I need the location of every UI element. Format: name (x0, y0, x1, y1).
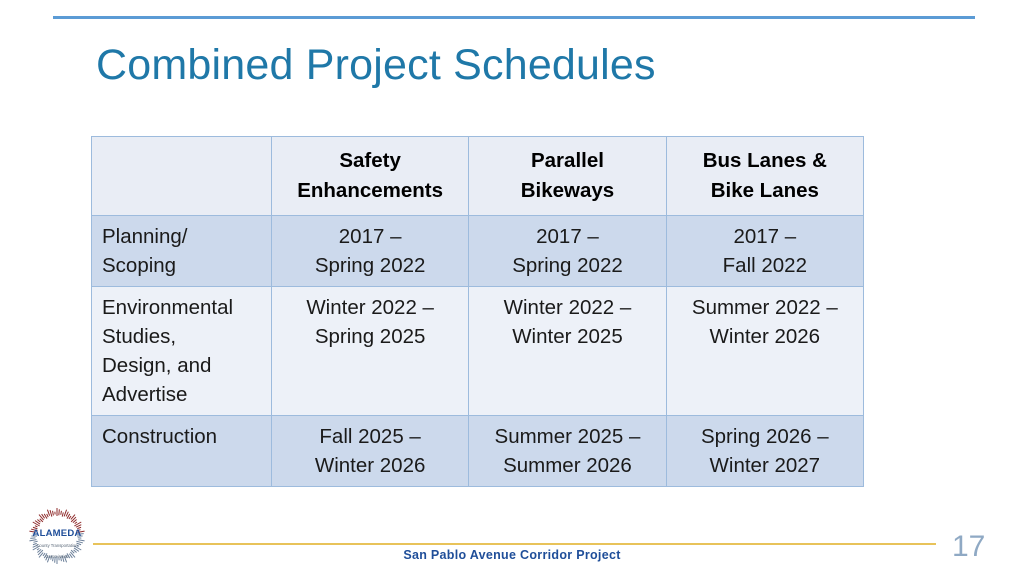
cell-construction-bus-bike: Spring 2026 – Winter 2027 (666, 416, 863, 487)
cell-text: Winter 2022 – Winter 2025 (469, 287, 665, 357)
header-line-1: Bus Lanes & (675, 146, 855, 176)
cell-environmental-bus-bike: Summer 2022 – Winter 2026 (666, 287, 863, 416)
row-label-text: Planning/ Scoping (92, 216, 271, 286)
header-line-1: Safety (280, 146, 460, 176)
cell-text: Summer 2025 – Summer 2026 (469, 416, 665, 486)
page-number: 17 (952, 530, 1012, 564)
page-title: Combined Project Schedules (96, 38, 936, 92)
footer-accent-rule (93, 543, 936, 545)
cell-planning-safety: 2017 – Spring 2022 (271, 216, 468, 287)
cell-text: Summer 2022 – Winter 2026 (667, 287, 863, 357)
logo-subtitle-line-1: County Transportation (24, 543, 90, 548)
footer-project-name: San Pablo Avenue Corridor Project (0, 548, 1024, 562)
cell-text: 2017 – Spring 2022 (469, 216, 665, 286)
logo-subtitle-line-2: Commission (24, 554, 90, 559)
top-accent-rule (53, 16, 975, 19)
header-line-2: Enhancements (280, 176, 460, 206)
header-line-2: Bikeways (477, 176, 657, 206)
header-cell-bus-lanes-bike-lanes: Bus Lanes & Bike Lanes (666, 137, 863, 216)
row-label-cell-environmental-studies: Environmental Studies, Design, and Adver… (92, 287, 272, 416)
row-label-cell-construction: Construction (92, 416, 272, 487)
row-label-text: Environmental Studies, Design, and Adver… (92, 287, 271, 415)
row-label-cell-planning-scoping: Planning/ Scoping (92, 216, 272, 287)
header-cell-blank (92, 137, 272, 216)
alameda-ctc-logo: ALAMEDA County Transportation Commission (24, 506, 90, 566)
cell-text: Spring 2026 – Winter 2027 (667, 416, 863, 486)
header-blank-text (92, 137, 271, 155)
cell-text: Fall 2025 – Winter 2026 (272, 416, 468, 486)
cell-environmental-bikeways: Winter 2022 – Winter 2025 (469, 287, 666, 416)
header-bus-bike-lanes-text: Bus Lanes & Bike Lanes (667, 137, 863, 215)
cell-planning-bikeways: 2017 – Spring 2022 (469, 216, 666, 287)
header-line-1: Parallel (477, 146, 657, 176)
cell-environmental-safety: Winter 2022 – Spring 2025 (271, 287, 468, 416)
cell-text: 2017 – Spring 2022 (272, 216, 468, 286)
row-label-text: Construction (92, 416, 271, 457)
cell-planning-bus-bike: 2017 – Fall 2022 (666, 216, 863, 287)
table-row-environmental-studies: Environmental Studies, Design, and Adver… (92, 287, 864, 416)
header-safety-enhancements-text: Safety Enhancements (272, 137, 468, 215)
cell-text: Winter 2022 – Spring 2025 (272, 287, 468, 357)
header-line-2: Bike Lanes (675, 176, 855, 206)
cell-text: 2017 – Fall 2022 (667, 216, 863, 286)
header-cell-safety-enhancements: Safety Enhancements (271, 137, 468, 216)
cell-construction-safety: Fall 2025 – Winter 2026 (271, 416, 468, 487)
table-header-row: Safety Enhancements Parallel Bikeways Bu… (92, 137, 864, 216)
table-row-planning-scoping: Planning/ Scoping 2017 – Spring 2022 201… (92, 216, 864, 287)
header-cell-parallel-bikeways: Parallel Bikeways (469, 137, 666, 216)
cell-construction-bikeways: Summer 2025 – Summer 2026 (469, 416, 666, 487)
logo-subtitle: County Transportation Commission (24, 538, 90, 564)
combined-project-schedules-table: Safety Enhancements Parallel Bikeways Bu… (91, 136, 864, 487)
table-row-construction: Construction Fall 2025 – Winter 2026 Sum… (92, 416, 864, 487)
header-parallel-bikeways-text: Parallel Bikeways (469, 137, 665, 215)
